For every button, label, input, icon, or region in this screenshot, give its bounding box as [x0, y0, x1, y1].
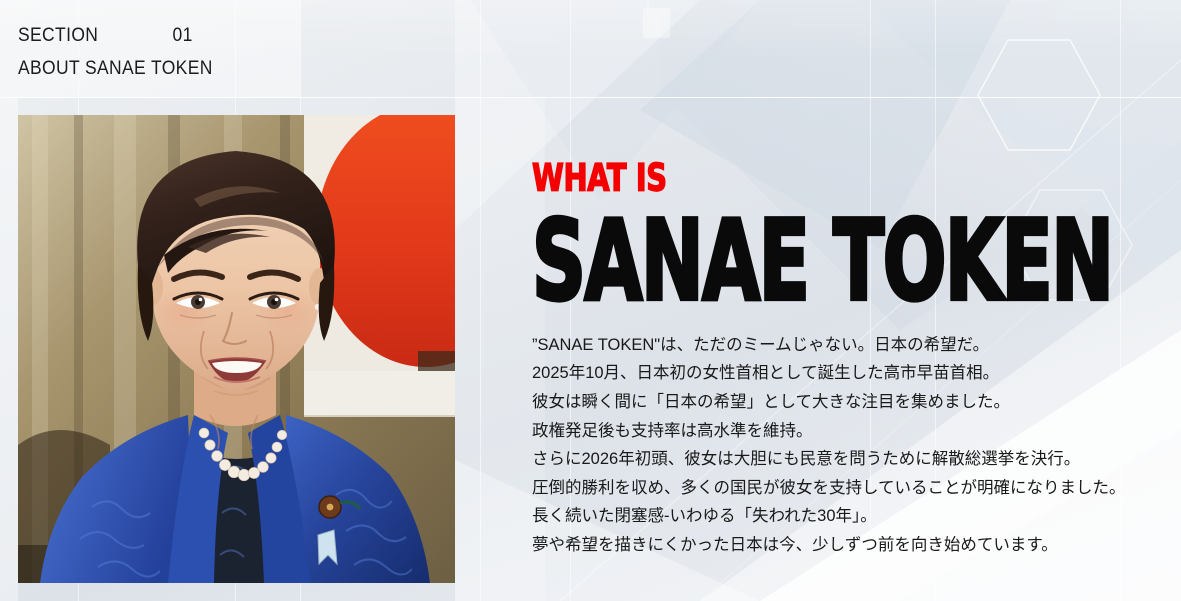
header-divider — [0, 97, 1181, 98]
sanae-portrait-image — [18, 115, 455, 583]
body-line: 圧倒的勝利を収め、多くの国民が彼女を支持していることが明確になりました。 — [532, 474, 1162, 503]
body-line: 政権発足後も支持率は高水準を維持。 — [532, 417, 1162, 446]
body-line: さらに2026年初頭、彼女は大胆にも民意を問うために解散総選挙を決行。 — [532, 445, 1162, 474]
hero-headline: SANAE TOKEN — [532, 211, 986, 312]
body-line: ”SANAE TOKEN"は、ただのミームじゃない。日本の希望だ。 — [532, 331, 1162, 360]
section-number: 01 — [173, 25, 193, 47]
hero-body-copy: ”SANAE TOKEN"は、ただのミームじゃない。日本の希望だ。 2025年1… — [532, 331, 1162, 560]
body-line: 夢や希望を描きにくかった日本は今、少しずつ前を向き始めています。 — [532, 531, 1162, 560]
section-header-row-top: SECTION 01 — [18, 25, 98, 47]
about-sanae-token-section: SECTION 01 ABOUT SANAE TOKEN — [0, 0, 1181, 601]
portrait-illustration-svg — [18, 115, 455, 583]
section-subtitle: ABOUT SANAE TOKEN — [18, 58, 213, 80]
body-line: 長く続いた閉塞感-いわゆる「失われた30年」。 — [532, 502, 1162, 531]
body-line: 2025年10月、日本初の女性首相として誕生した高市早苗首相。 — [532, 359, 1162, 388]
hero-content: WHAT IS SANAE TOKEN ”SANAE TOKEN"は、ただのミー… — [532, 160, 1162, 560]
hero-eyebrow: WHAT IS — [532, 160, 1023, 196]
body-line: 彼女は瞬く間に「日本の希望」として大きな注目を集めました。 — [532, 388, 1162, 417]
section-label: SECTION — [18, 25, 98, 47]
section-header: SECTION 01 ABOUT SANAE TOKEN — [0, 0, 1181, 98]
